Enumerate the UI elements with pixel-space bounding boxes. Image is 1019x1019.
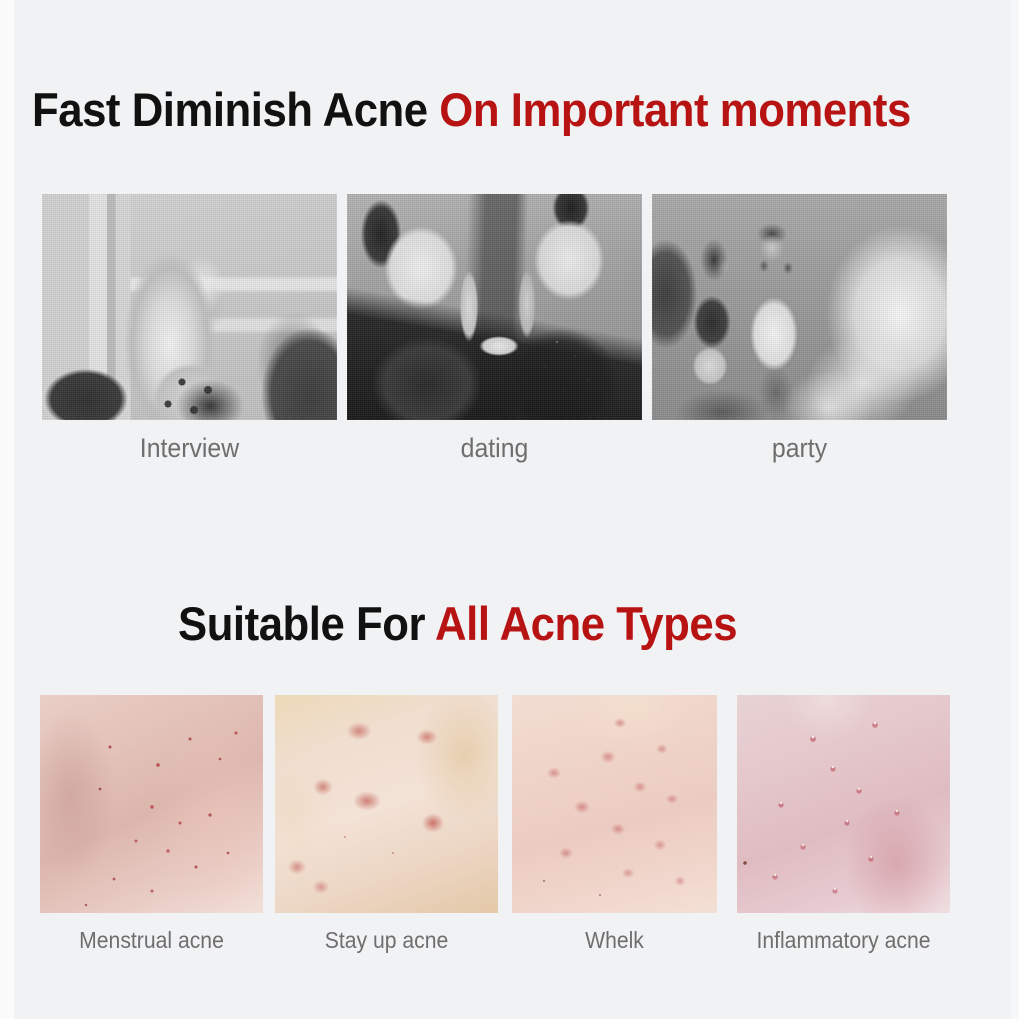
left-margin-strip <box>0 0 14 1019</box>
page-headline-moments: Fast Diminish Acne On Important moments <box>32 86 911 133</box>
caption-interview: Interview <box>54 435 325 462</box>
photo-inflammatory-acne <box>737 695 950 913</box>
photo-party <box>652 194 947 420</box>
caption-dating: dating <box>359 435 630 462</box>
product-marketing-page: Fast Diminish Acne On Important moments … <box>0 0 1019 1019</box>
photo-stay-up-acne <box>275 695 498 913</box>
headline-acne-types-black: Suitable For <box>178 597 435 650</box>
photo-whelk <box>512 695 717 913</box>
caption-party: party <box>664 435 935 462</box>
caption-whelk: Whelk <box>520 929 709 952</box>
photo-menstrual-acne <box>40 695 263 913</box>
photo-dating <box>347 194 642 420</box>
headline-acne-types-red: All Acne Types <box>435 597 737 650</box>
photo-interview <box>42 194 337 420</box>
caption-stay-up-acne: Stay up acne <box>284 929 489 952</box>
caption-inflammatory-acne: Inflammatory acne <box>732 929 956 952</box>
headline-moments-red: On Important moments <box>439 83 911 136</box>
headline-moments-black: Fast Diminish Acne <box>32 83 439 136</box>
right-margin-strip <box>1011 0 1019 1019</box>
page-headline-acne-types: Suitable For All Acne Types <box>178 600 737 647</box>
caption-menstrual-acne: Menstrual acne <box>49 929 254 952</box>
